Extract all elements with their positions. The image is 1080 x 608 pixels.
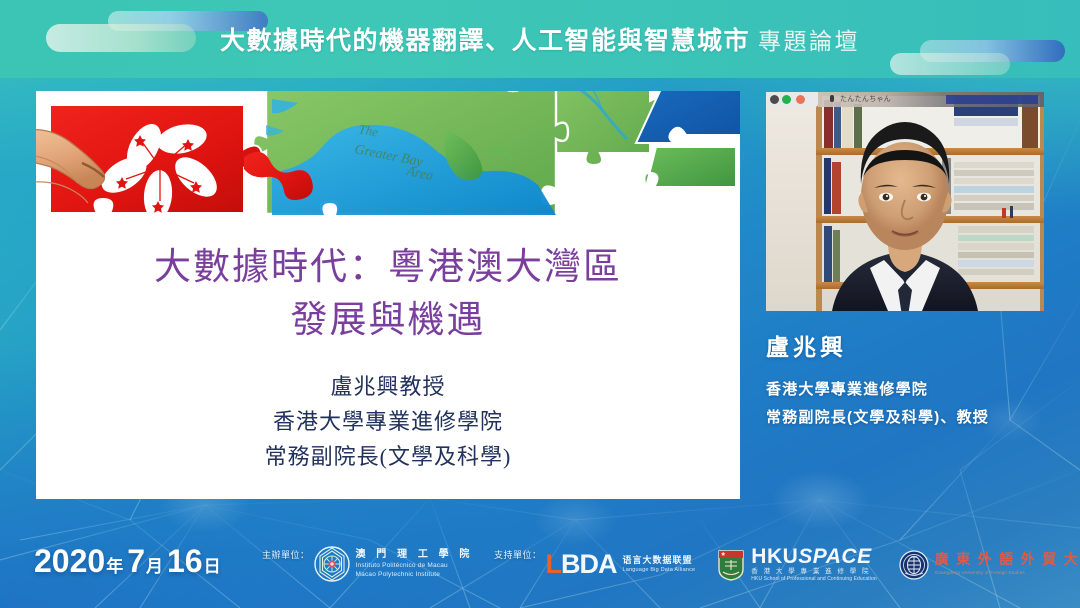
mpi-name-cn: 澳 門 理 工 學 院 [356, 549, 474, 561]
gdufs-name-cn: 廣 東 外 語 外 貿 大 學 [935, 553, 1080, 569]
video-overlay-strip: たんたんちゃん [818, 92, 1044, 107]
slide-subtitle-affiliation: 香港大學專業進修學院 [36, 404, 740, 439]
event-date-month: 7 [127, 543, 145, 580]
event-date-day-unit: 日 [204, 552, 221, 577]
gdufs-logo-text: 廣 東 外 語 外 貿 大 學 Guangdong University of … [935, 553, 1080, 576]
hku-name-cn: 香 港 大 學 專 業 進 修 學 院 [751, 567, 876, 576]
slide-subtitle-role: 常務副院長(文學及科學) [36, 439, 740, 474]
support-label: 支持單位： [494, 548, 542, 561]
microphone-icon [830, 95, 834, 102]
hku-word-a: HKU [751, 545, 798, 568]
hku-name-en: HKU School of Professional and Continuin… [751, 576, 876, 583]
slide-title-line-2: 發展與機遇 [36, 294, 740, 347]
gdufs-name-en: Guangdong University of Foreign Studies [935, 569, 1080, 576]
mpi-crest-icon [314, 546, 350, 582]
slide-banner-image: The Greater Bay Area [36, 91, 740, 223]
slide-title: 大數據時代：粵港澳大灣區 發展與機遇 [36, 241, 740, 347]
mpi-name-en: Macao Polytechnic Institute [356, 570, 474, 579]
slide-subtitle: 盧兆興教授 香港大學專業進修學院 常務副院長(文學及科學) [36, 369, 740, 474]
support-organizations: 支持單位： LBDA 语言大数据联盟 Language Big Data All… [494, 546, 1080, 583]
recording-indicator-icon[interactable] [796, 95, 805, 104]
hku-crest-icon [717, 549, 745, 581]
hku-wordmark: HKUSPACE [751, 546, 876, 567]
slide-title-line-1: 大數據時代：粵港澳大灣區 [36, 241, 740, 294]
forum-title-main: 大數據時代的機器翻譯、人工智能與智慧城市 [220, 21, 750, 57]
logo-lbda: LBDA 语言大数据联盟 Language Big Data Alliance [546, 551, 696, 578]
forum-title-suffix: 專題論壇 [758, 22, 860, 56]
svg-text:1965: 1965 [910, 555, 917, 559]
event-date-year: 2020 [34, 543, 105, 580]
host-label: 主辦單位： [262, 548, 310, 561]
mpi-name-pt: Instituto Politécnico de Macau [356, 561, 474, 570]
speaker-affiliation: 香港大學專業進修學院 [766, 376, 1066, 404]
event-date-month-unit: 月 [146, 552, 163, 577]
video-overlay-toolbar[interactable]: たんたんちゃん [766, 92, 1044, 107]
lbda-name-cn: 语言大数据联盟 [623, 555, 696, 566]
settings-gear-icon[interactable] [770, 95, 779, 104]
lbda-logo-text: 语言大数据联盟 Language Big Data Alliance [623, 555, 696, 574]
lbda-acronym-first: L [546, 549, 562, 579]
speaker-role: 常務副院長(文學及科學)、教授 [766, 404, 1066, 432]
event-date: 2020 年 7 月 16 日 [34, 543, 225, 580]
broadcast-stage: 大數據時代的機器翻譯、人工智能與智慧城市 專題論壇 [0, 0, 1080, 608]
event-date-year-unit: 年 [106, 552, 123, 577]
slide-subtitle-speaker: 盧兆興教授 [36, 369, 740, 404]
speaker-caption: 盧兆興 香港大學專業進修學院 常務副院長(文學及科學)、教授 [766, 332, 1066, 432]
event-date-day: 16 [167, 543, 203, 580]
lbda-name-en: Language Big Data Alliance [623, 566, 696, 574]
mpi-logo-text: 澳 門 理 工 學 院 Instituto Politécnico de Mac… [356, 549, 474, 579]
forum-header-bar: 大數據時代的機器翻譯、人工智能與智慧城市 專題論壇 [0, 0, 1080, 78]
camera-on-icon[interactable] [782, 95, 791, 104]
host-organizations: 主辦單位： 澳 門 理 工 學 院 Instituto Politécnico … [262, 546, 473, 582]
logo-gdufs: 1965 廣 東 外 語 外 貿 大 學 Guangdong Universit… [899, 550, 1080, 580]
gdufs-crest-icon: 1965 [899, 550, 929, 580]
hku-word-b: SPACE [798, 545, 871, 568]
speaker-video-feed[interactable]: たんたんちゃん [766, 92, 1044, 311]
lbda-acronym-rest: BDA [561, 549, 617, 579]
speaker-name: 盧兆興 [766, 332, 1066, 362]
forum-title: 大數據時代的機器翻譯、人工智能與智慧城市 專題論壇 [0, 0, 1080, 78]
logo-macao-polytechnic: 澳 門 理 工 學 院 Instituto Politécnico de Mac… [314, 546, 474, 582]
video-overlay-badge [946, 95, 1038, 104]
logo-hku-space: HKUSPACE 香 港 大 學 專 業 進 修 學 院 HKU School … [717, 546, 876, 583]
hku-logo-text: HKUSPACE 香 港 大 學 專 業 進 修 學 院 HKU School … [751, 546, 876, 583]
presentation-slide: The Greater Bay Area [36, 91, 740, 499]
lbda-wordmark: LBDA [546, 551, 617, 578]
video-overlay-label: たんたんちゃん [840, 94, 891, 104]
video-frame-content [766, 92, 1044, 311]
puzzle-piece-green-right [644, 147, 736, 187]
